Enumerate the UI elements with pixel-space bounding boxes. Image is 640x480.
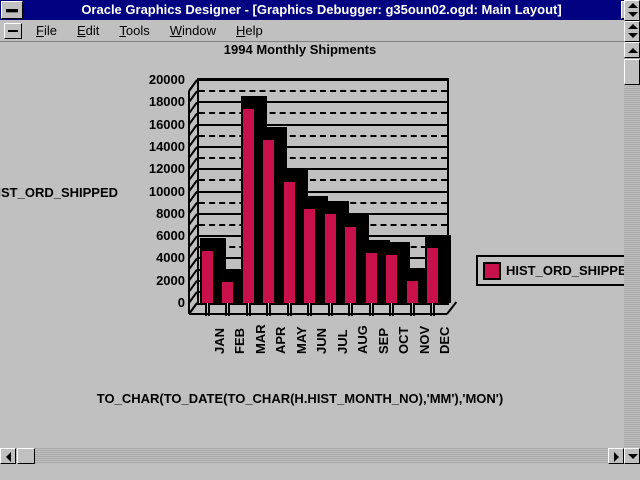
grid-line — [199, 157, 447, 159]
grid-line — [199, 124, 447, 126]
bar-base-slab — [430, 303, 435, 316]
x-axis-tick-label: FEB — [233, 328, 246, 354]
horizontal-scrollbar[interactable] — [0, 448, 624, 464]
vertical-scrollbar[interactable] — [624, 42, 640, 464]
window-menu-icon[interactable] — [1, 1, 23, 19]
y-axis-tick-label: 18000 — [60, 95, 185, 108]
menu-item-file-label: ile — [44, 23, 57, 38]
bar[interactable] — [200, 249, 215, 305]
menu-item-window-label: indow — [182, 23, 216, 38]
x-axis-title: TO_CHAR(TO_DATE(TO_CHAR(H.HIST_MONTH_NO)… — [0, 391, 600, 406]
grid-line — [199, 191, 447, 193]
menu-item-help[interactable]: Help — [226, 21, 273, 41]
x-axis-tick-label: AUG — [356, 325, 369, 354]
y-axis-tick-label: 0 — [60, 296, 185, 309]
x-axis-tick-label: MAY — [295, 326, 308, 354]
bar-base-slab — [205, 303, 210, 316]
bar[interactable] — [220, 280, 235, 305]
window-size-spinner-child[interactable] — [624, 21, 640, 42]
title-bar: Oracle Graphics Designer - [Graphics Deb… — [0, 0, 640, 20]
chart-title: 1994 Monthly Shipments — [0, 42, 600, 57]
bar[interactable] — [405, 279, 420, 305]
grid-line — [199, 179, 447, 181]
y-axis-tick-label: 4000 — [60, 251, 185, 264]
legend-label: HIST_ORD_SHIPPED — [506, 263, 624, 278]
y-axis-tick-label: 8000 — [60, 207, 185, 220]
bar[interactable] — [241, 107, 256, 305]
bar-base-slab — [410, 303, 415, 316]
menu-item-window[interactable]: Window — [160, 21, 226, 41]
scroll-left-icon[interactable] — [0, 448, 16, 464]
document-client-area[interactable]: 1994 Monthly Shipments HIST_ORD_SHIPPED … — [0, 42, 624, 464]
menu-item-help-label: elp — [245, 23, 262, 38]
bar[interactable] — [384, 253, 399, 305]
bar[interactable] — [302, 207, 317, 305]
bar-base-slab — [266, 303, 271, 316]
y-axis-tick-label: 6000 — [60, 229, 185, 242]
up-arrow-glyph — [628, 48, 638, 53]
bar-base-slab — [369, 303, 374, 316]
grid-line — [199, 79, 447, 81]
bar-base-slab — [389, 303, 394, 316]
y-axis-tick-label: 20000 — [60, 73, 185, 86]
down-arrow-glyph — [628, 454, 638, 459]
menu-item-edit[interactable]: Edit — [67, 21, 109, 41]
bar[interactable] — [323, 212, 338, 305]
bar-base-slab — [246, 303, 251, 316]
grid-line — [199, 135, 447, 137]
menu-item-edit-label: dit — [86, 23, 100, 38]
horizontal-scroll-track[interactable] — [16, 448, 608, 464]
bar[interactable] — [282, 180, 297, 305]
menu-item-tools[interactable]: Tools — [109, 21, 159, 41]
scroll-right-icon[interactable] — [608, 448, 624, 464]
bar-base-slab — [225, 303, 230, 316]
chart-legend[interactable]: HIST_ORD_SHIPPED — [476, 255, 624, 286]
grid-line — [199, 90, 447, 92]
legend-swatch — [483, 262, 501, 280]
vertical-scroll-track[interactable] — [624, 58, 640, 448]
spinner-up-glyph-child — [628, 24, 638, 29]
x-axis-tick-label: JUN — [315, 328, 328, 354]
x-axis-tick-label: APR — [274, 327, 287, 354]
spinner-down-glyph-app — [628, 12, 638, 17]
x-axis-tick-label: DEC — [438, 327, 451, 354]
bar[interactable] — [425, 246, 440, 305]
spinner-up-glyph-app — [628, 3, 638, 8]
x-axis-tick-label: OCT — [397, 327, 410, 354]
x-axis-tick-label: JAN — [213, 328, 226, 354]
grid-line — [199, 112, 447, 114]
grid-line — [199, 146, 447, 148]
bar-base-slab — [307, 303, 312, 316]
y-axis-tick-label: 14000 — [60, 140, 185, 153]
grid-line — [199, 101, 447, 103]
bar-base-slab — [287, 303, 292, 316]
horizontal-scroll-thumb[interactable] — [17, 448, 35, 464]
y-axis-tick-label: 16000 — [60, 118, 185, 131]
y-axis-tick-label: 2000 — [60, 274, 185, 287]
scrollbar-corner — [624, 464, 640, 480]
x-axis-tick-label: MAR — [254, 324, 267, 354]
left-arrow-glyph — [6, 452, 11, 462]
scroll-up-icon[interactable] — [624, 42, 640, 58]
spinner-down-glyph-child — [628, 33, 638, 38]
x-axis-tick-label: JUL — [336, 329, 349, 354]
bar[interactable] — [343, 225, 358, 305]
y-axis-tick-label: 10000 — [60, 185, 185, 198]
bar[interactable] — [261, 138, 276, 305]
bar[interactable] — [364, 251, 379, 305]
plot-area — [197, 78, 449, 305]
grid-line — [199, 168, 447, 170]
bar-base-slab — [328, 303, 333, 316]
right-arrow-glyph — [614, 452, 619, 462]
window-size-spinner-app[interactable] — [624, 0, 640, 21]
x-axis-tick-label: NOV — [418, 326, 431, 354]
application-window: Oracle Graphics Designer - [Graphics Deb… — [0, 0, 640, 480]
bar-base-slab — [348, 303, 353, 316]
scroll-down-icon[interactable] — [624, 448, 640, 464]
window-title: Oracle Graphics Designer - [Graphics Deb… — [23, 0, 620, 20]
y-axis-tick-label: 12000 — [60, 162, 185, 175]
menu-item-tools-label: ools — [126, 23, 150, 38]
menu-bar: File Edit Tools Window Help — [0, 20, 640, 42]
child-window-menu-icon[interactable] — [4, 23, 22, 39]
vertical-scroll-thumb[interactable] — [624, 59, 640, 85]
x-axis-tick-label: SEP — [377, 328, 390, 354]
menu-item-file[interactable]: File — [26, 21, 67, 41]
